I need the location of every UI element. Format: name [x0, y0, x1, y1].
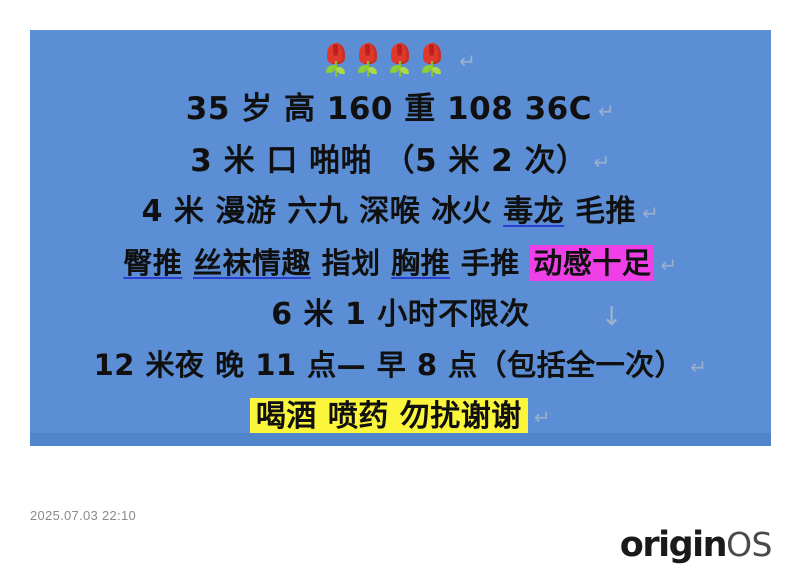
- poster-line-3-plain-b: 毛推: [564, 194, 636, 229]
- poster-line-4-underlined-term-2: 丝袜情趣: [193, 246, 311, 280]
- tulip-emoji: [389, 43, 411, 79]
- poster-line-3: 4 米 漫游 六九 深喉 冰火 毒龙 毛推↵: [30, 187, 771, 238]
- tulip-emoji: [357, 43, 379, 79]
- return-mark-icon: ↵: [690, 355, 707, 379]
- logo-primary-text: origin: [620, 525, 726, 565]
- logo-secondary-text: OS: [726, 525, 772, 564]
- poster-line-4-underlined-term-1: 臀推: [123, 246, 182, 280]
- poster-line-4-plain-c: 手推: [450, 246, 530, 280]
- screenshot-root: ↵ 35 岁 高 160 重 108 36C↵ 3 米 口 啪啪 （5 米 2 …: [0, 0, 800, 587]
- poster-line-5-text: 6 米 1 小时不限次: [271, 297, 530, 332]
- return-mark-icon: ↵: [534, 405, 551, 429]
- timestamp-label: 2025.07.03 22:10: [30, 508, 136, 523]
- down-arrow-icon: ↓: [601, 292, 623, 342]
- return-mark-icon: ↵: [594, 150, 611, 174]
- poster-line-2-text: 3 米 口 啪啪 （5 米 2 次）: [190, 143, 587, 179]
- poster-line-3-underlined-term: 毒龙: [503, 194, 564, 229]
- return-mark-icon: ↵: [642, 201, 659, 225]
- poster-line-4-plain-b: 指划: [311, 246, 391, 280]
- poster-line-6-text: 12 米夜 晚 11 点— 早 8 点（包括全一次）: [94, 348, 685, 382]
- originos-logo: originOS: [620, 525, 772, 565]
- tulip-emoji: [421, 43, 443, 79]
- return-mark-icon: ↵: [598, 99, 615, 123]
- tulip-emoji: [325, 43, 347, 79]
- poster-line-1: 35 岁 高 160 重 108 36C↵: [30, 84, 771, 136]
- poster-line-6: 12 米夜 晚 11 点— 早 8 点（包括全一次）↵: [30, 340, 771, 392]
- poster-line-2: 3 米 口 啪啪 （5 米 2 次）↵: [30, 136, 771, 188]
- tulip-emoji-row: ↵: [325, 38, 476, 84]
- poster-line-5: 6 米 1 小时不限次 ↓: [30, 290, 771, 340]
- poster-line-4-magenta-highlight: 动感十足: [530, 245, 654, 281]
- poster-image[interactable]: ↵ 35 岁 高 160 重 108 36C↵ 3 米 口 啪啪 （5 米 2 …: [30, 30, 771, 446]
- poster-line-7-yellow-highlight: 喝酒 喷药 勿扰谢谢: [250, 398, 528, 435]
- return-mark-icon: ↵: [459, 49, 476, 74]
- return-mark-icon: ↵: [660, 253, 677, 277]
- poster-line-1-text: 35 岁 高 160 重 108 36C: [186, 91, 592, 127]
- poster-line-4: 臀推 丝袜情趣 指划 胸推 手推 动感十足↵: [30, 238, 771, 290]
- poster-line-3-plain-a: 4 米 漫游 六九 深喉 冰火: [142, 194, 504, 229]
- poster-line-4-plain-a: [182, 246, 193, 280]
- poster-bottom-band: [30, 433, 771, 446]
- poster-content: ↵ 35 岁 高 160 重 108 36C↵ 3 米 口 啪啪 （5 米 2 …: [30, 30, 771, 442]
- poster-line-4-underlined-term-3: 胸推: [391, 246, 450, 280]
